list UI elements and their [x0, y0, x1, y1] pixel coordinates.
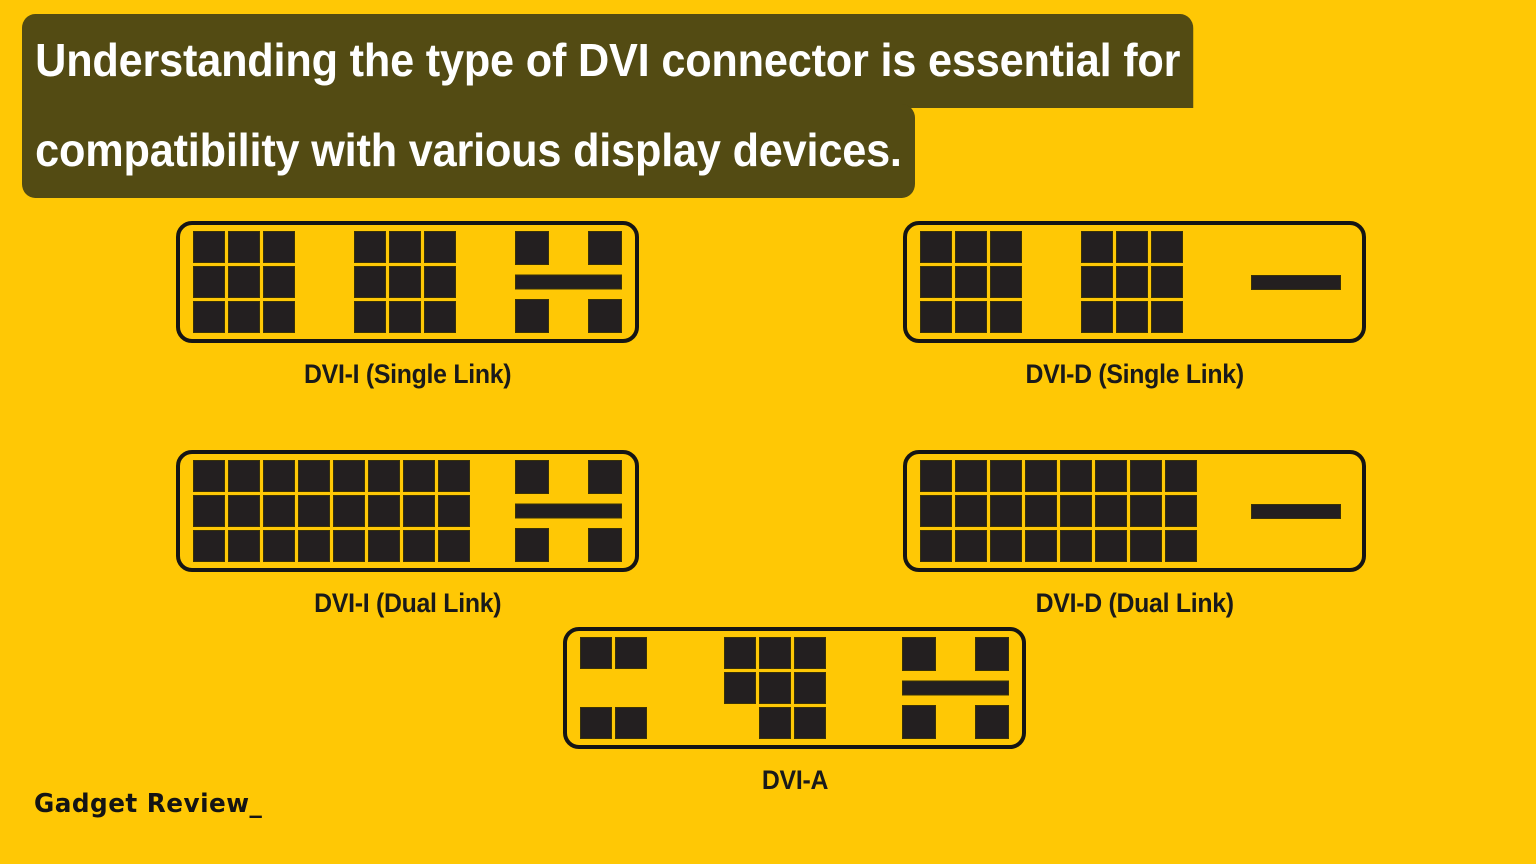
connector-dvi-d-dual-link: DVI-D (Dual Link)	[903, 450, 1366, 619]
pin	[264, 496, 294, 526]
pin	[1117, 267, 1147, 297]
pin	[1026, 461, 1056, 491]
analog-pin	[589, 529, 621, 561]
pin	[956, 232, 986, 262]
analog-pin	[516, 529, 548, 561]
pin	[264, 461, 294, 491]
pin-empty	[581, 673, 611, 703]
pin	[725, 638, 755, 668]
analog-cross-section-absent	[1243, 505, 1348, 518]
pin	[425, 267, 455, 297]
pin	[956, 496, 986, 526]
connector-dvi-i-single-link: DVI-I (Single Link)	[176, 221, 639, 390]
ground-blade	[516, 505, 621, 518]
pin	[194, 496, 224, 526]
pin	[795, 673, 825, 703]
pin	[991, 232, 1021, 262]
ground-blade	[1252, 276, 1340, 289]
pin	[1131, 461, 1161, 491]
digital-pin-block-1	[194, 232, 294, 332]
pin	[921, 461, 951, 491]
pin	[264, 531, 294, 561]
connector-label: DVI-D (Single Link)	[1025, 359, 1243, 390]
pin	[1096, 531, 1126, 561]
pin	[229, 302, 259, 332]
connector-shell	[903, 221, 1366, 343]
pin	[404, 496, 434, 526]
ground-blade	[1252, 505, 1340, 518]
pin	[264, 302, 294, 332]
pin	[616, 708, 646, 738]
pin	[264, 232, 294, 262]
pin	[616, 638, 646, 668]
pin	[1026, 496, 1056, 526]
pin	[921, 496, 951, 526]
analog-pin	[589, 232, 621, 264]
pin	[355, 302, 385, 332]
pin	[194, 267, 224, 297]
pin	[369, 496, 399, 526]
pin	[1166, 496, 1196, 526]
pin	[1166, 531, 1196, 561]
pin	[1131, 531, 1161, 561]
pin	[404, 531, 434, 561]
analog-pin	[903, 638, 935, 670]
digital-pin-block-2	[725, 638, 825, 738]
pin	[1082, 267, 1112, 297]
pin	[1117, 302, 1147, 332]
digital-pin-block-1	[194, 461, 469, 561]
pin	[921, 267, 951, 297]
pin	[581, 708, 611, 738]
pin	[334, 461, 364, 491]
pin	[956, 267, 986, 297]
pin	[194, 531, 224, 561]
ground-blade	[903, 682, 1008, 695]
pin	[581, 638, 611, 668]
pin	[991, 267, 1021, 297]
pin	[355, 232, 385, 262]
pin	[1061, 531, 1091, 561]
connector-shell	[903, 450, 1366, 572]
digital-pin-block-1	[581, 638, 646, 738]
analog-pin	[589, 461, 621, 493]
connector-shell	[176, 221, 639, 343]
connector-shell	[563, 627, 1026, 749]
pin	[264, 267, 294, 297]
pin	[229, 531, 259, 561]
connector-shell	[176, 450, 639, 572]
connector-label: DVI-I (Single Link)	[304, 359, 511, 390]
pin	[425, 232, 455, 262]
connector-label: DVI-I (Dual Link)	[314, 588, 501, 619]
pin	[425, 302, 455, 332]
pin	[229, 267, 259, 297]
pin	[1082, 302, 1112, 332]
analog-pin	[589, 300, 621, 332]
pin	[439, 461, 469, 491]
pin	[404, 461, 434, 491]
pin	[369, 531, 399, 561]
analog-cross-section	[903, 638, 1008, 738]
analog-pin	[516, 300, 548, 332]
pin-empty	[616, 673, 646, 703]
pin	[1117, 232, 1147, 262]
pin	[1082, 232, 1112, 262]
digital-pin-block-2	[355, 232, 455, 332]
digital-pin-block-1	[921, 461, 1196, 561]
pin	[1026, 531, 1056, 561]
pin	[921, 232, 951, 262]
digital-pin-block-2	[1082, 232, 1182, 332]
pin	[334, 531, 364, 561]
pin	[1096, 496, 1126, 526]
pin	[760, 673, 790, 703]
pin	[991, 531, 1021, 561]
pin	[369, 461, 399, 491]
pin	[1152, 232, 1182, 262]
connector-label: DVI-A	[761, 765, 827, 796]
pin	[390, 267, 420, 297]
pin	[1131, 496, 1161, 526]
analog-cross-section	[516, 232, 621, 332]
connector-dvi-d-single-link: DVI-D (Single Link)	[903, 221, 1366, 390]
pin	[991, 302, 1021, 332]
pin	[194, 302, 224, 332]
pin	[725, 673, 755, 703]
pin	[390, 232, 420, 262]
pin	[194, 461, 224, 491]
pin	[1152, 302, 1182, 332]
analog-pin	[903, 706, 935, 738]
pin	[956, 531, 986, 561]
pin	[1096, 461, 1126, 491]
pin-layout	[567, 631, 1022, 745]
pin	[921, 531, 951, 561]
pin	[439, 531, 469, 561]
pin	[760, 638, 790, 668]
ground-blade	[516, 276, 621, 289]
pin	[921, 302, 951, 332]
pin-layout	[180, 454, 635, 568]
pin	[795, 638, 825, 668]
pin	[956, 302, 986, 332]
analog-pin	[976, 706, 1008, 738]
analog-pin	[976, 638, 1008, 670]
pin	[439, 496, 469, 526]
pin	[991, 496, 1021, 526]
analog-cross-section	[516, 461, 621, 561]
pin	[956, 461, 986, 491]
pin	[355, 267, 385, 297]
pin	[1166, 461, 1196, 491]
pin	[991, 461, 1021, 491]
connector-dvi-i-dual-link: DVI-I (Dual Link)	[176, 450, 639, 619]
pin	[229, 232, 259, 262]
pin-layout	[907, 225, 1362, 339]
pin-empty	[725, 708, 755, 738]
pin	[299, 531, 329, 561]
pin-layout	[907, 454, 1362, 568]
pin	[390, 302, 420, 332]
pin	[795, 708, 825, 738]
pin	[334, 496, 364, 526]
pin-layout	[180, 225, 635, 339]
pin	[194, 232, 224, 262]
brand-watermark: Gadget Review_	[34, 789, 262, 819]
pin	[760, 708, 790, 738]
pin	[1061, 461, 1091, 491]
pin	[299, 461, 329, 491]
analog-cross-section-absent	[1243, 276, 1348, 289]
analog-pin	[516, 461, 548, 493]
connector-label: DVI-D (Dual Link)	[1035, 588, 1233, 619]
connector-dvi-a: DVI-A	[563, 627, 1026, 796]
connector-diagram-board: DVI-I (Single Link)	[0, 0, 1536, 864]
analog-pin	[516, 232, 548, 264]
pin	[229, 461, 259, 491]
pin	[229, 496, 259, 526]
pin	[1152, 267, 1182, 297]
pin	[299, 496, 329, 526]
pin	[1061, 496, 1091, 526]
digital-pin-block-1	[921, 232, 1021, 332]
